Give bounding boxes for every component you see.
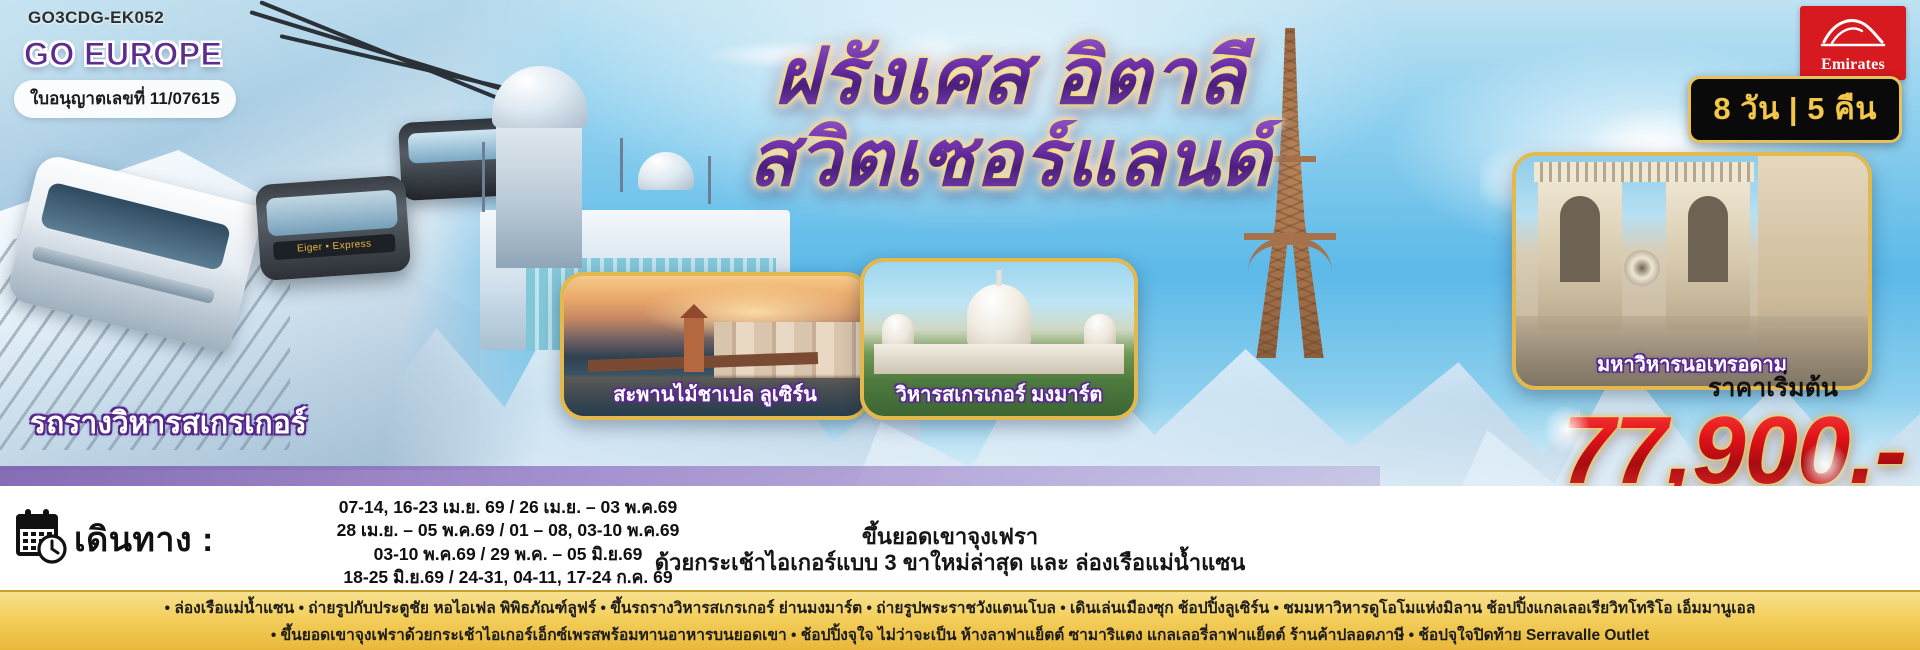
photo-caption-lucerne: สะพานไม้ชาเปล ลูเซิร์น [564, 378, 866, 410]
emirates-wordmark: Emirates [1821, 56, 1885, 74]
water-tower [684, 316, 704, 372]
photo-card-lucerne: สะพานไม้ชาเปล ลูเซิร์น [560, 272, 870, 420]
photo-caption-left: รถรางวิหารสเกรเกอร์ [30, 400, 307, 447]
rose-window [1624, 250, 1660, 286]
highlight-line-2: • ขึ้นยอดเขาจุงเฟราด้วยกระเช้าไอเกอร์เอ็… [271, 622, 1649, 647]
license-badge: ใบอนุญาตเลขที่ 11/07615 [14, 80, 236, 118]
photo-card-notre-dame: มหาวิหารนอเทรอดาม [1512, 152, 1872, 390]
highlights-bar: • ล่องเรือแม่น้ำแซน • ถ่ายรูปกับประตูชัย… [0, 590, 1920, 650]
emirates-logo: Emirates [1800, 6, 1906, 80]
eiger-express-gondola: Eiger • Express [255, 175, 411, 281]
observatory-tower [496, 108, 582, 268]
gondola-window-front [266, 190, 398, 237]
notre-dame-arch-left [1560, 196, 1600, 282]
highlight-line-1: • ล่องเรือแม่น้ำแซน • ถ่ายรูปกับประตูชัย… [165, 595, 1756, 620]
title-line-1: ฝรั่งเศส อิตาลี [640, 38, 1380, 114]
promo-line-1: ขึ้นยอดเขาจุงเฟรา [580, 524, 1320, 550]
notre-dame-arch-right [1688, 196, 1728, 282]
main-title: ฝรั่งเศส อิตาลี สวิตเซอร์แลนด์ [640, 38, 1380, 197]
gondola-brand-label: Eiger • Express [273, 234, 396, 260]
emirates-calligraphy-icon [1820, 12, 1886, 50]
title-line-2: สวิตเซอร์แลนด์ [640, 120, 1380, 196]
photo-caption-sacre-coeur: วิหารสเกรเกอร์ มงมาร์ต [864, 378, 1134, 410]
calendar-clock-icon [14, 508, 68, 564]
lucerne-houses [714, 322, 864, 378]
antenna-mast-2 [620, 138, 623, 192]
eiffel-arch [1248, 238, 1332, 272]
sacre-facade [874, 344, 1124, 374]
travel-promo-banner: Eiger • Express GO3CDG-EK052 GO EUROPE ใ… [0, 0, 1920, 650]
departure-label: เดินทาง : [74, 512, 214, 566]
sacre-left-dome [882, 314, 914, 348]
promo-text: ขึ้นยอดเขาจุงเฟรา ด้วยกระเช้าไอเกอร์แบบ … [580, 524, 1320, 577]
sacre-right-dome [1084, 314, 1116, 348]
sacre-main-dome [967, 284, 1031, 346]
notre-dame-gallery [1534, 162, 1754, 182]
photo-card-sacre-coeur: วิหารสเกรเกอร์ มงมาร์ต [860, 258, 1138, 420]
product-code: GO3CDG-EK052 [28, 8, 164, 28]
promo-line-2: ด้วยกระเช้าไอเกอร์แบบ 3 ขาใหม่ล่าสุด และ… [580, 550, 1320, 576]
departure-date-row: 07-14, 16-23 เม.ย. 69 / 26 เม.ย. – 03 พ.… [228, 496, 788, 519]
observatory-dome [492, 66, 588, 128]
eiffel-first-deck [1244, 233, 1336, 240]
antenna-mast-1 [482, 142, 485, 212]
duration-badge: 8 วัน | 5 คืน [1688, 76, 1902, 143]
brand-title: GO EUROPE [24, 36, 222, 73]
